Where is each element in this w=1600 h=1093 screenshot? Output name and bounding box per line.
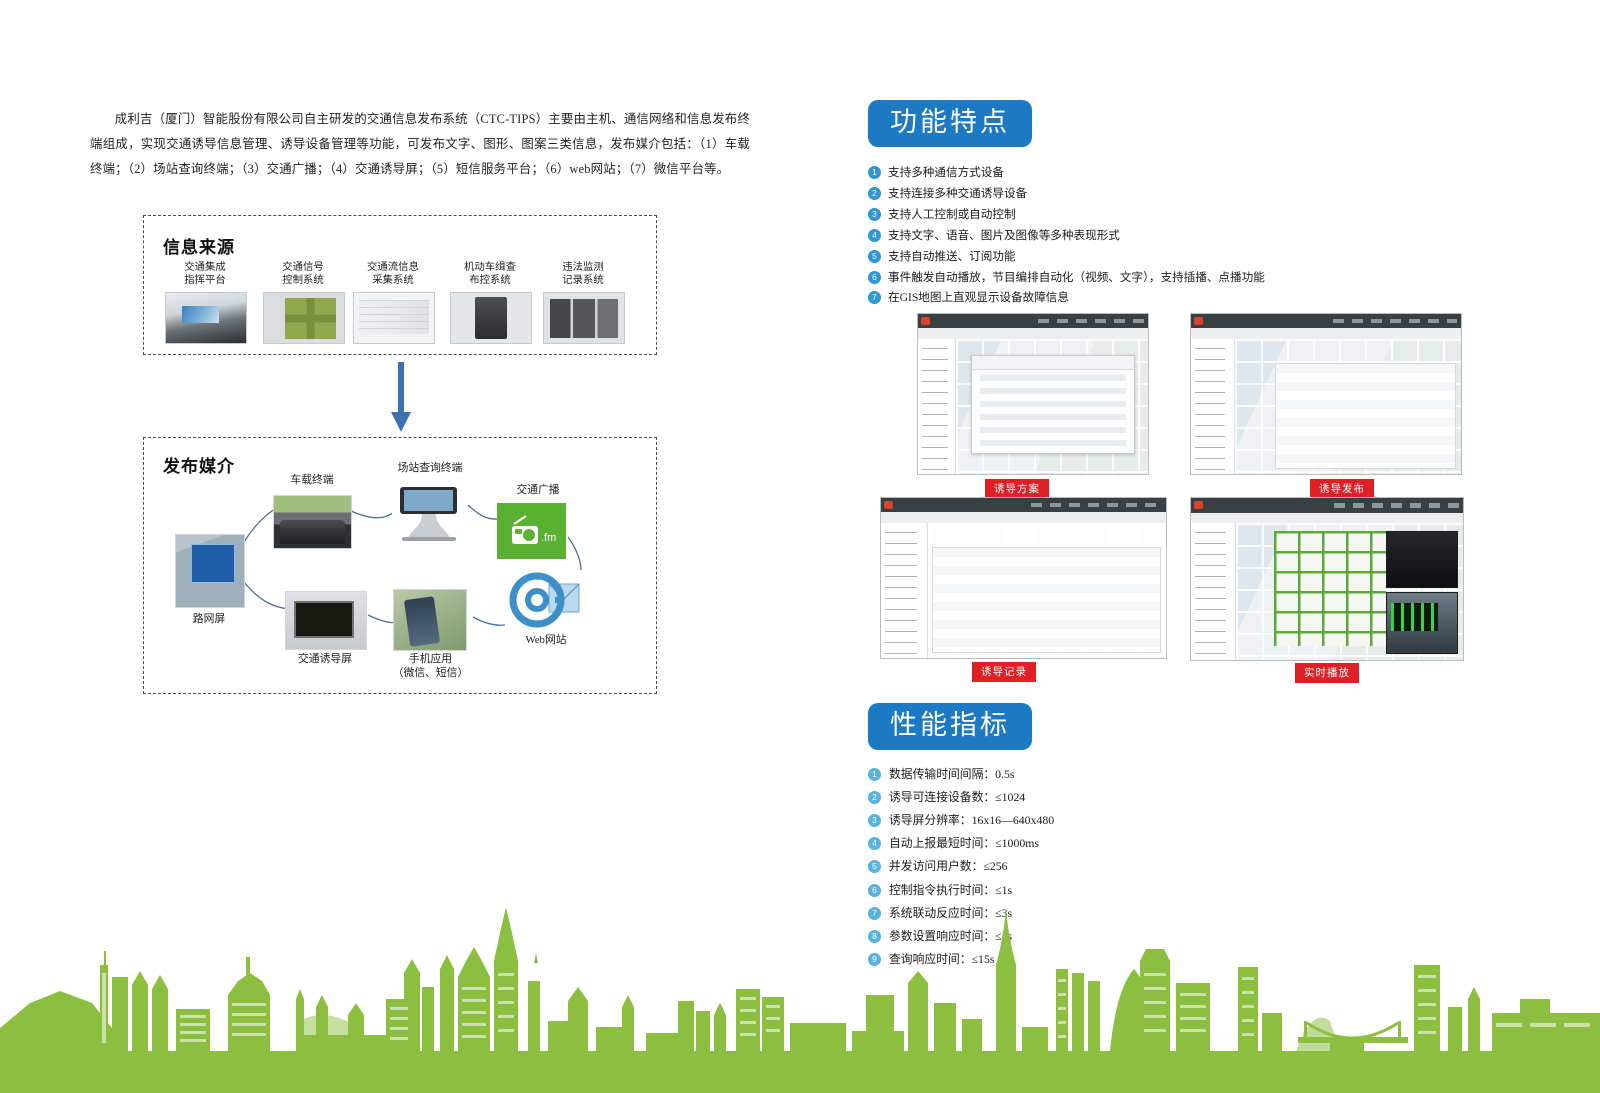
app-screenshot	[1190, 313, 1462, 475]
data-table	[1275, 363, 1457, 468]
bullet-number-icon: 1	[868, 166, 881, 179]
vehicle-check-screen	[450, 292, 532, 344]
mobile-app-photo	[393, 589, 467, 651]
screenshot-caption: 诱导方案	[985, 479, 1049, 499]
media-label-guidance: 交通诱导屏	[270, 652, 380, 666]
feature-item: 3支持人工控制或自动控制	[868, 206, 1508, 223]
bullet-number-icon: 6	[868, 884, 881, 897]
performance-text: 自动上报最短时间：≤1000ms	[889, 835, 1039, 852]
performance-item: 3诱导屏分辨率：16x16—640x480	[868, 812, 1508, 829]
performance-title-badge: 性能指标	[868, 703, 1032, 750]
source-item-label: 违法监测 记录系统	[543, 261, 623, 288]
bullet-number-icon: 4	[868, 837, 881, 850]
feature-text: 支持自动推送、订阅功能	[888, 248, 1016, 265]
performance-text: 数据传输时间间隔：0.5s	[889, 766, 1015, 783]
bullet-number-icon: 3	[868, 208, 881, 221]
bullet-number-icon: 6	[868, 271, 881, 284]
at-symbol-envelope-icon	[505, 570, 583, 632]
source-item-label: 交通集成 指挥平台	[165, 261, 245, 288]
performance-item: 4自动上报最短时间：≤1000ms	[868, 835, 1508, 852]
station-kiosk-photo	[392, 485, 465, 543]
dialog-rows	[980, 375, 1125, 447]
media-label-mobile: 手机应用 （微信、短信）	[378, 652, 483, 680]
screenshot-caption: 诱导发布	[1310, 479, 1374, 499]
record-table	[932, 547, 1161, 652]
bullet-number-icon: 5	[868, 860, 881, 873]
bullet-number-icon: 4	[868, 229, 881, 242]
media-label-vehicle: 车载终端	[271, 473, 353, 487]
bullet-number-icon: 2	[868, 791, 881, 804]
media-label-kiosk: 场站查询终端	[381, 461, 479, 475]
app-content	[918, 339, 1148, 474]
performance-item: 5并发访问用户数：≤256	[868, 858, 1508, 875]
app-content	[1191, 523, 1463, 660]
bullet-number-icon: 1	[868, 768, 881, 781]
features-section: 功能特点 1支持多种通信方式设备 2支持连接多种交通诱导设备 3支持人工控制或自…	[868, 100, 1508, 310]
feature-text: 在GIS地图上直观显示设备故障信息	[888, 289, 1069, 306]
dialog-panel	[971, 355, 1134, 454]
intro-paragraph: 成利吉（厦门）智能股份有限公司自主研发的交通信息发布系统（CTC-TIPS）主要…	[90, 107, 750, 181]
performance-text: 诱导屏分辨率：16x16—640x480	[889, 812, 1054, 829]
tree-panel	[918, 339, 956, 474]
media-label-web: Web网站	[500, 633, 592, 647]
control-room-photo	[165, 292, 247, 344]
app-screenshot	[880, 497, 1167, 659]
brochure-page: 成利吉（厦门）智能股份有限公司自主研发的交通信息发布系统（CTC-TIPS）主要…	[0, 0, 1600, 1093]
media-label-radio: 交通广播	[498, 483, 578, 497]
live-video-bottom	[1386, 592, 1459, 654]
traffic-flow-screen	[353, 292, 435, 344]
source-item-label: 交通流信息 采集系统	[353, 261, 433, 288]
violation-record-screen	[543, 292, 625, 344]
radio-fm-icon: .fm	[497, 503, 566, 559]
live-video-top	[1386, 531, 1459, 588]
feature-item: 1支持多种通信方式设备	[868, 164, 1508, 181]
tree-panel	[1191, 339, 1235, 474]
bullet-number-icon: 3	[868, 814, 881, 827]
feature-item: 5支持自动推送、订阅功能	[868, 248, 1508, 265]
screenshot-1[interactable]	[1190, 313, 1460, 473]
source-item-0: 交通集成 指挥平台	[165, 261, 245, 344]
app-titlebar	[1191, 498, 1463, 513]
guidance-screen-photo	[285, 591, 367, 650]
feature-text: 事件触发自动播放，节目编排自动化（视频、文字），支持插播、点播功能	[888, 269, 1265, 286]
source-item-3: 机动车缉查 布控系统	[450, 261, 530, 344]
performance-text: 诱导可连接设备数：≤1024	[889, 789, 1025, 806]
map-area	[1236, 523, 1463, 660]
source-item-label: 交通信号 控制系统	[263, 261, 343, 288]
feature-item: 4支持文字、语音、图片及图像等多种表现形式	[868, 227, 1508, 244]
features-list: 1支持多种通信方式设备 2支持连接多种交通诱导设备 3支持人工控制或自动控制 4…	[868, 164, 1508, 307]
in-vehicle-terminal-photo	[273, 495, 352, 549]
performance-item: 6控制指令执行时间：≤1s	[868, 882, 1508, 899]
bullet-number-icon: 7	[868, 291, 881, 304]
dialog-header	[972, 356, 1133, 370]
record-area	[928, 523, 1166, 658]
feature-item: 7在GIS地图上直观显示设备故障信息	[868, 289, 1508, 306]
city-skyline-decoration	[0, 903, 1600, 1093]
features-title-badge: 功能特点	[868, 100, 1032, 147]
bullet-number-icon: 2	[868, 187, 881, 200]
source-item-label: 机动车缉查 布控系统	[450, 261, 530, 288]
feature-item: 6事件触发自动播放，节目编排自动化（视频、文字），支持插播、点播功能	[868, 269, 1508, 286]
app-screenshot	[917, 313, 1149, 475]
performance-item: 2诱导可连接设备数：≤1024	[868, 789, 1508, 806]
intro-section: 成利吉（厦门）智能股份有限公司自主研发的交通信息发布系统（CTC-TIPS）主要…	[90, 95, 750, 194]
road-grid-map	[1274, 531, 1385, 646]
feature-text: 支持连接多种交通诱导设备	[888, 185, 1027, 202]
screenshot-caption: 实时播放	[1295, 663, 1359, 683]
feature-text: 支持多种通信方式设备	[888, 164, 1004, 181]
down-arrow-icon	[390, 362, 412, 434]
information-source-title: 信息来源	[163, 233, 235, 258]
screenshot-caption: 诱导记录	[972, 662, 1036, 682]
road-network-screen-photo	[175, 534, 245, 608]
feature-text: 支持人工控制或自动控制	[888, 206, 1016, 223]
tree-panel	[1191, 523, 1236, 660]
app-titlebar	[918, 314, 1148, 328]
source-item-4: 违法监测 记录系统	[543, 261, 623, 344]
screenshot-3[interactable]	[1190, 497, 1462, 659]
source-item-2: 交通流信息 采集系统	[353, 261, 433, 344]
performance-text: 并发访问用户数：≤256	[889, 858, 1008, 875]
screenshot-0[interactable]	[917, 313, 1147, 473]
performance-text: 控制指令执行时间：≤1s	[889, 882, 1012, 899]
app-content	[881, 523, 1166, 658]
media-label-road: 路网屏	[168, 612, 250, 626]
bullet-number-icon: 5	[868, 250, 881, 263]
tree-panel	[881, 523, 928, 658]
app-content	[1191, 339, 1461, 474]
app-screenshot	[1190, 497, 1464, 661]
screenshot-2[interactable]	[880, 497, 1165, 657]
feature-text: 支持文字、语音、图片及图像等多种表现形式	[888, 227, 1120, 244]
app-titlebar	[1191, 314, 1461, 328]
app-titlebar	[881, 498, 1166, 512]
map-area	[956, 339, 1148, 474]
feature-item: 2支持连接多种交通诱导设备	[868, 185, 1508, 202]
source-item-1: 交通信号 控制系统	[263, 261, 343, 344]
map-area	[1235, 339, 1461, 474]
svg-text:.fm: .fm	[541, 532, 556, 544]
performance-item: 1数据传输时间间隔：0.5s	[868, 766, 1508, 783]
signal-control-screen	[263, 292, 345, 344]
